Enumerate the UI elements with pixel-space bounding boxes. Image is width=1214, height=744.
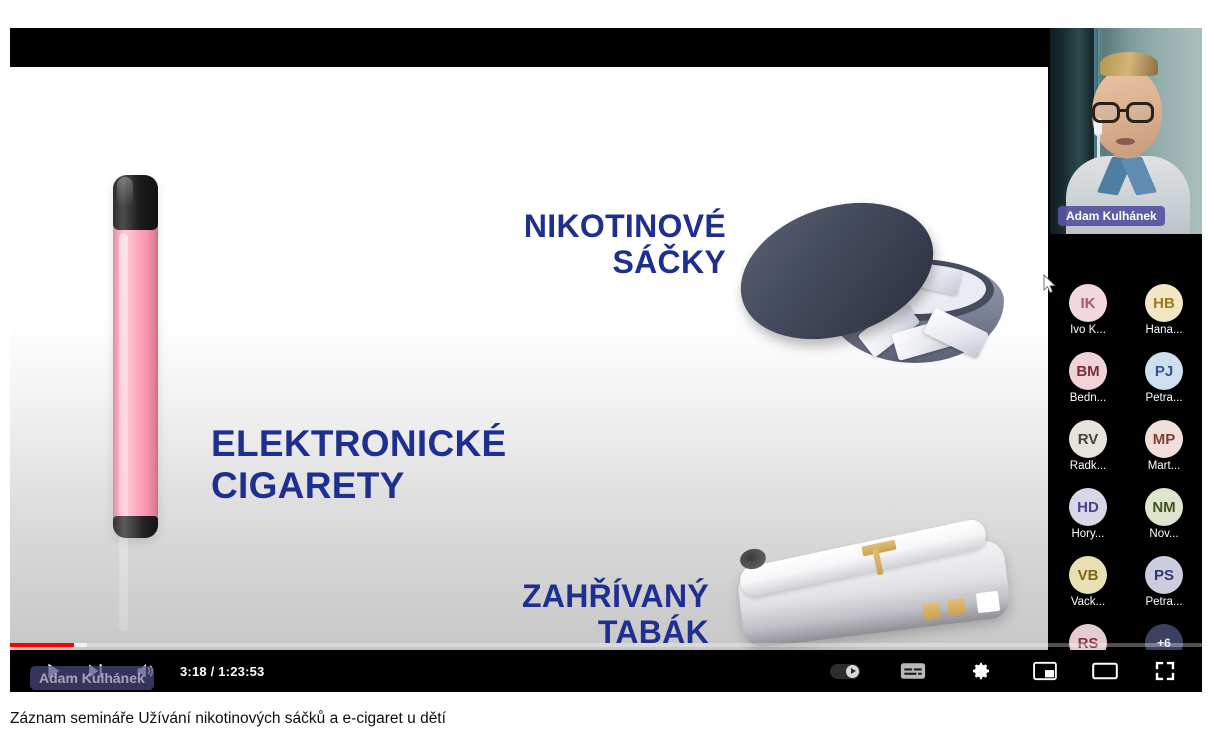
- participant-name: Hory...: [1071, 528, 1104, 540]
- participant-tile[interactable]: BMBedn...: [1050, 352, 1126, 420]
- participant-avatar: HB: [1145, 284, 1183, 322]
- label-line-2: CIGARETY: [211, 465, 507, 507]
- fullscreen-icon: [1154, 660, 1176, 682]
- player-control-bar[interactable]: 3:18 / 1:23:53: [10, 650, 1202, 692]
- participant-tile[interactable]: PSPetra...: [1126, 556, 1202, 624]
- label-line-1: NIKOTINOVÉ: [524, 208, 726, 244]
- webcam-name-tag: Adam Kulhánek: [1058, 206, 1165, 226]
- presenter-eyeglass-bridge: [1120, 109, 1128, 112]
- time-display: 3:18 / 1:23:53: [180, 664, 264, 679]
- slide-label-electronic-cigarettes: ELEKTRONICKÉ CIGARETY: [211, 423, 507, 507]
- slide-label-nicotine-pouches: NIKOTINOVÉ SÁČKY: [524, 208, 726, 281]
- progress-track[interactable]: [10, 643, 1202, 647]
- progress-bar[interactable]: [10, 640, 1202, 650]
- theater-mode-button[interactable]: [1084, 650, 1126, 692]
- heated-tobacco-button: [976, 591, 1000, 614]
- label-line-2: SÁČKY: [524, 244, 726, 280]
- autoplay-toggle-button[interactable]: [824, 650, 866, 692]
- presenter-webcam-tile[interactable]: Adam Kulhánek: [1050, 28, 1202, 234]
- participant-avatar: VB: [1069, 556, 1107, 594]
- participants-grid[interactable]: IKIvo K...HBHana...BMBedn...PJPetra...RV…: [1050, 262, 1202, 650]
- participant-name: Petra...: [1145, 392, 1182, 404]
- participant-name: Nov...: [1149, 528, 1178, 540]
- participant-name: Radk...: [1070, 460, 1106, 472]
- participant-name: Petra...: [1145, 596, 1182, 608]
- participant-name: Ivo K...: [1070, 324, 1106, 336]
- participant-avatar: PS: [1145, 556, 1183, 594]
- participant-tile[interactable]: VBVack...: [1050, 556, 1126, 624]
- participant-tile[interactable]: IKIvo K...: [1050, 284, 1126, 352]
- participant-avatar: IK: [1069, 284, 1107, 322]
- participant-name: Hana...: [1145, 324, 1182, 336]
- miniplayer-icon: [1033, 661, 1057, 681]
- subtitles-button[interactable]: [892, 650, 934, 692]
- autoplay-toggle-icon: [830, 664, 860, 679]
- participant-tile[interactable]: RVRadk...: [1050, 420, 1126, 488]
- theater-mode-icon: [1092, 661, 1118, 681]
- participant-tile[interactable]: PJPetra...: [1126, 352, 1202, 420]
- presenter-eyeglass-left: [1092, 102, 1120, 123]
- presenter-eyeglass-right: [1126, 102, 1154, 123]
- progress-played: [10, 643, 74, 647]
- autoplay-toggle-knob: [846, 665, 859, 678]
- label-line-1: ELEKTRONICKÉ: [211, 423, 507, 465]
- video-title[interactable]: Záznam semináře Užívání nikotinových sáč…: [10, 710, 446, 728]
- miniplayer-button[interactable]: [1024, 650, 1066, 692]
- participant-avatar: BM: [1069, 352, 1107, 390]
- participant-avatar: HD: [1069, 488, 1107, 526]
- video-player[interactable]: ELEKTRONICKÉ CIGARETY NIKOTINOVÉ SÁČKY: [10, 28, 1202, 692]
- participant-avatar: NM: [1145, 488, 1183, 526]
- heated-tobacco-indicator: [947, 598, 966, 616]
- heated-tobacco-indicator: [922, 602, 941, 620]
- meeting-sidebar: Adam Kulhánek IKIvo K...HBHana...BMBedn.…: [1050, 28, 1202, 650]
- participant-tile[interactable]: HBHana...: [1126, 284, 1202, 352]
- gear-icon: [970, 660, 992, 682]
- closed-captions-icon: [900, 661, 926, 681]
- participant-avatar: RV: [1069, 420, 1107, 458]
- presenter-earbud-cord: [1097, 134, 1100, 172]
- label-line-1: ZAHŘÍVANÝ: [522, 578, 709, 614]
- presenter-mouth: [1116, 138, 1135, 145]
- e-cigarette-base: [113, 516, 158, 538]
- participant-tile[interactable]: NMNov...: [1126, 488, 1202, 556]
- participant-avatar: PJ: [1145, 352, 1183, 390]
- fullscreen-button[interactable]: [1144, 650, 1186, 692]
- presenter-hair-highlight: [1100, 52, 1158, 76]
- participant-name: Vack...: [1071, 596, 1105, 608]
- e-cigarette-illustration: [113, 175, 158, 538]
- e-cigarette-mouthpiece: [113, 175, 158, 230]
- participant-tile[interactable]: HDHory...: [1050, 488, 1126, 556]
- e-cigarette-highlight: [119, 233, 128, 631]
- settings-button[interactable]: [960, 650, 1002, 692]
- shared-slide: ELEKTRONICKÉ CIGARETY NIKOTINOVÉ SÁČKY: [10, 67, 1048, 668]
- webcam-letterbox: [1050, 234, 1202, 262]
- participant-name: Bedn...: [1070, 392, 1106, 404]
- participant-avatar: MP: [1145, 420, 1183, 458]
- presenter-overlay-name-tag: Adam Kulhánek: [30, 666, 154, 690]
- participant-name: Mart...: [1148, 460, 1181, 472]
- participant-tile[interactable]: MPMart...: [1126, 420, 1202, 488]
- nicotine-pouch-illustration: [738, 207, 1008, 372]
